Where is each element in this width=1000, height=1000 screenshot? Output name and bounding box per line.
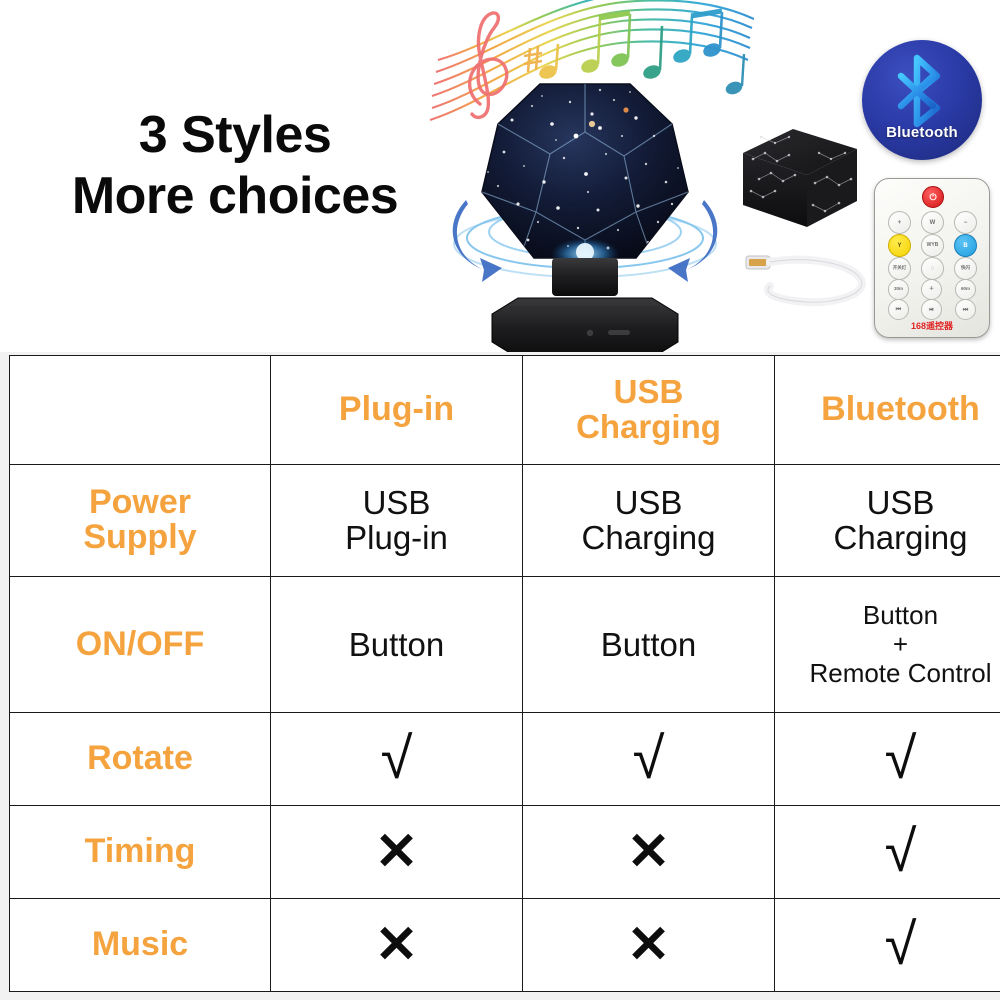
comparison-table-section: Plug-in USB Charging Bluetooth Power Sup… <box>0 352 1000 1000</box>
bluetooth-badge-label: Bluetooth <box>862 124 982 141</box>
row-label-on-off: ON/OFF <box>10 577 271 713</box>
bluetooth-badge: Bluetooth <box>862 40 982 160</box>
table-header-row: Plug-in USB Charging Bluetooth <box>10 356 1000 465</box>
header-cell-empty <box>10 356 271 465</box>
row-label-timing: Timing <box>10 806 271 899</box>
remote-button-w: W <box>921 211 944 234</box>
remote-button-blue: B <box>954 234 977 257</box>
cell-power-supply-usb-charging: USB Charging <box>523 464 775 577</box>
gift-box-image <box>735 123 863 235</box>
remote-button-minus: − <box>954 211 977 234</box>
row-label-music: Music <box>10 899 271 992</box>
cell-power-supply-bluetooth: USB Charging <box>775 464 1000 577</box>
remote-button-bright-up: ＋ <box>921 279 942 300</box>
comparison-table: Plug-in USB Charging Bluetooth Power Sup… <box>9 355 1000 992</box>
remote-button-flash: 快闪 <box>954 257 977 280</box>
cell-timing-usb-charging: ✕ <box>523 806 775 899</box>
cell-rotate-bluetooth: √ <box>775 713 1000 806</box>
row-label-power-supply: Power Supply <box>10 464 271 577</box>
table-row: ON/OFF Button Button Button + Remote Con… <box>10 577 1000 713</box>
remote-button-yellow: Y <box>888 234 911 257</box>
remote-button-playpause: ⏯ <box>921 299 942 320</box>
headline-line-2: More choices <box>40 166 430 227</box>
remote-button-30min: 30m <box>888 279 909 300</box>
cell-music-bluetooth: √ <box>775 899 1000 992</box>
cell-onoff-plugin: Button <box>271 577 523 713</box>
cell-onoff-usb-charging: Button <box>523 577 775 713</box>
header-cell-bluetooth: Bluetooth <box>775 356 1000 465</box>
cell-rotate-plugin: √ <box>271 713 523 806</box>
headline-line-1: 3 Styles <box>40 105 430 166</box>
table-row: Power Supply USB Plug-in USB Charging US… <box>10 464 1000 577</box>
cell-power-supply-plugin: USB Plug-in <box>271 464 523 577</box>
hero-section: 3 Styles More choices <box>0 0 1000 352</box>
star-projector-lamp-image <box>440 62 730 352</box>
cell-music-usb-charging: ✕ <box>523 899 775 992</box>
row-label-rotate: Rotate <box>10 713 271 806</box>
remote-button-wyb: WYB <box>921 234 944 257</box>
cell-onoff-bluetooth: Button + Remote Control <box>775 577 1000 713</box>
infographic-page: 3 Styles More choices <box>0 0 1000 1000</box>
header-cell-plugin: Plug-in <box>271 356 523 465</box>
cell-timing-plugin: ✕ <box>271 806 523 899</box>
remote-button-previous: ⏮ <box>888 299 909 320</box>
remote-button-switch: 开关灯 <box>888 257 911 280</box>
bluetooth-icon <box>893 54 951 133</box>
remote-model-label: 168遥控器 <box>875 319 989 332</box>
table-row: Timing ✕ ✕ √ <box>10 806 1000 899</box>
remote-button-mode: ◌ <box>921 257 944 280</box>
remote-control-image: ⏻ + W − Y WYB B 开关灯 ◌ 快闪 30m ＋ 60m ⏮ ⏯ ⏭… <box>874 178 990 338</box>
table-row: Rotate √ √ √ <box>10 713 1000 806</box>
cell-timing-bluetooth: √ <box>775 806 1000 899</box>
table-row: Music ✕ ✕ √ <box>10 899 1000 992</box>
page-title: 3 Styles More choices <box>40 105 430 228</box>
cell-music-plugin: ✕ <box>271 899 523 992</box>
remote-button-next: ⏭ <box>955 299 976 320</box>
usb-cable-image <box>744 240 874 312</box>
header-cell-usb-charging: USB Charging <box>523 356 775 465</box>
remote-button-60min: 60m <box>955 279 976 300</box>
cell-rotate-usb-charging: √ <box>523 713 775 806</box>
remote-button-plus: + <box>888 211 911 234</box>
remote-power-button: ⏻ <box>922 186 944 208</box>
